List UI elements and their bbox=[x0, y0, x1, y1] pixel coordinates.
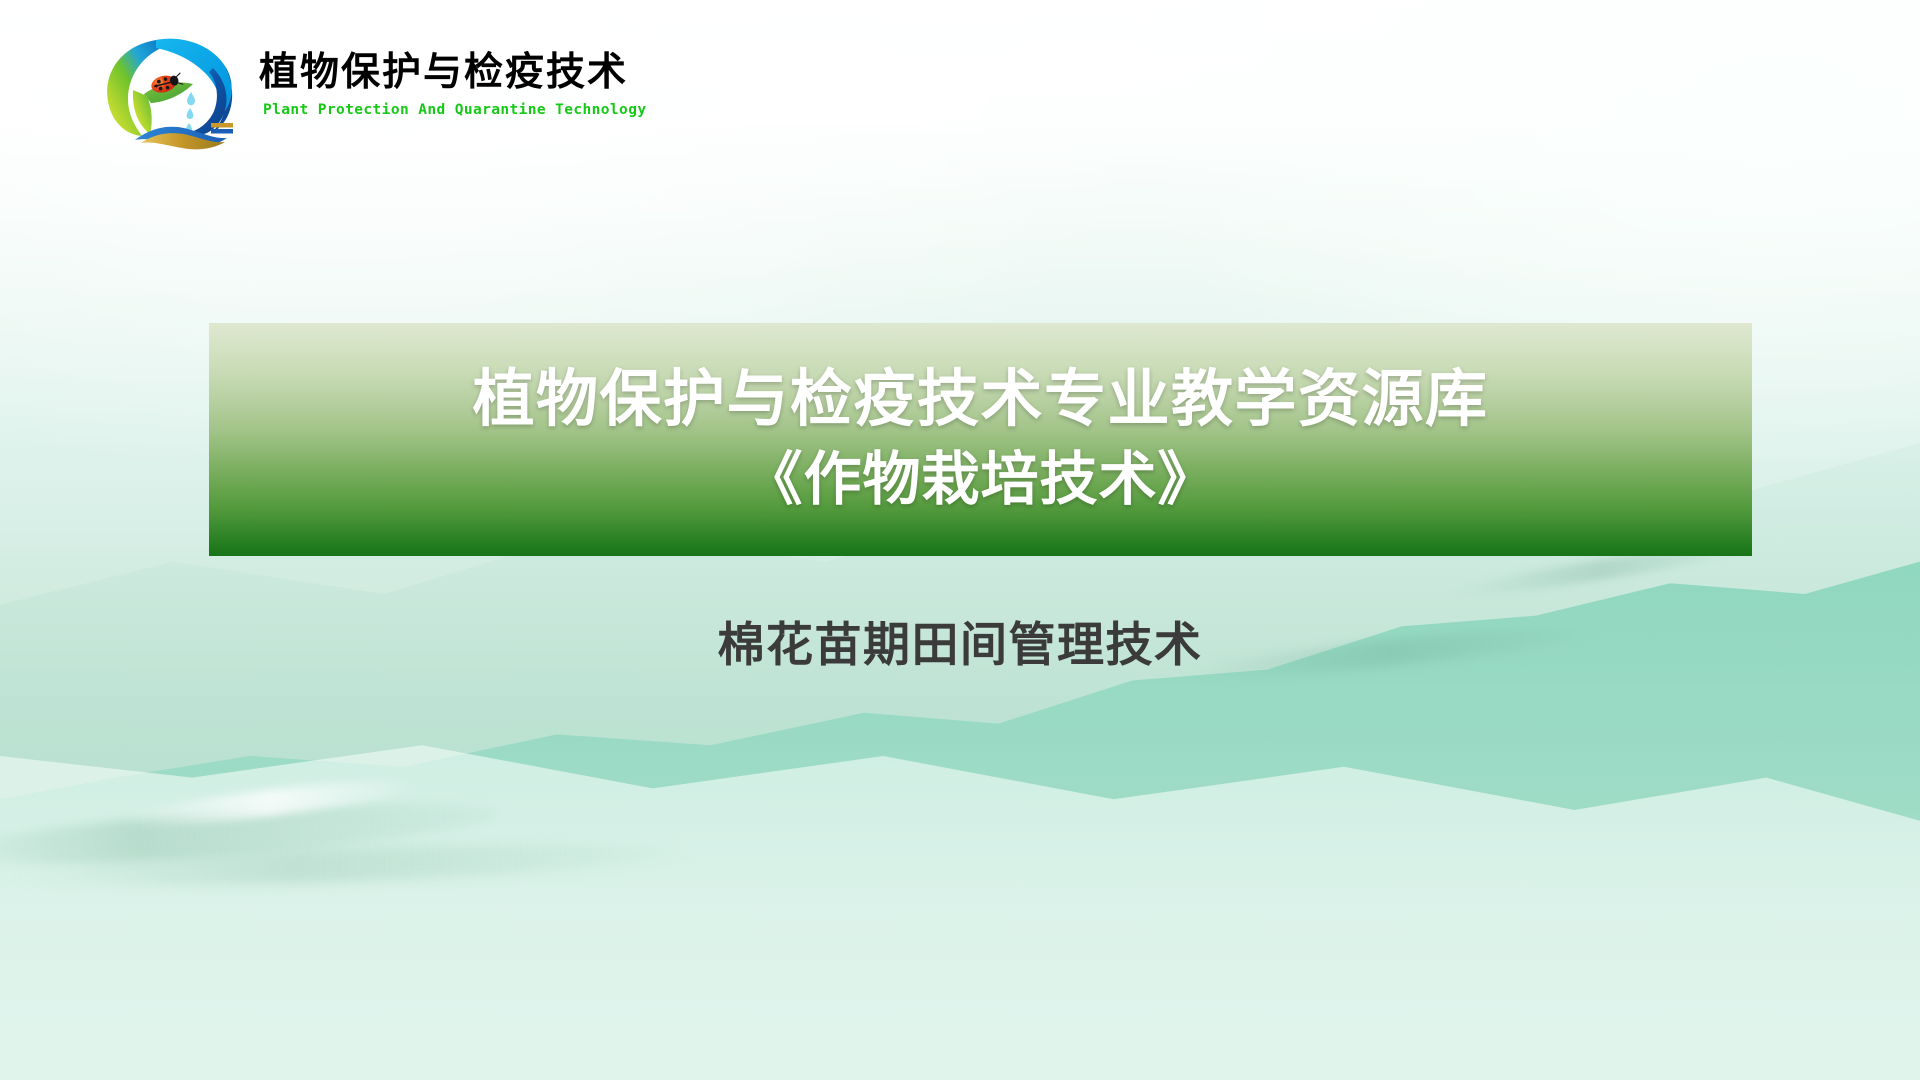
brand-title-english: Plant Protection And Quarantine Technolo… bbox=[263, 102, 646, 118]
plant-protection-quarantine-logo bbox=[95, 22, 245, 152]
background-mist-stroke bbox=[10, 836, 691, 894]
brand-header: 植物保护与检疫技术 Plant Protection And Quarantin… bbox=[95, 22, 646, 152]
presentation-slide: 植物保护与检疫技术 Plant Protection And Quarantin… bbox=[0, 0, 1920, 1080]
water-drop-icon bbox=[186, 92, 195, 133]
background-mist-highlight bbox=[120, 772, 421, 834]
brand-text-block: 植物保护与检疫技术 Plant Protection And Quarantin… bbox=[259, 22, 646, 118]
title-banner: 植物保护与检疫技术专业教学资源库 《作物栽培技术》 bbox=[209, 323, 1752, 556]
banner-title-line-1: 植物保护与检疫技术专业教学资源库 bbox=[472, 367, 1488, 434]
background-mist-stroke bbox=[0, 792, 501, 877]
slide-subtitle: 棉花苗期田间管理技术 bbox=[0, 606, 1920, 675]
banner-title-line-2: 《作物栽培技术》 bbox=[744, 448, 1216, 513]
brand-title-chinese: 植物保护与检疫技术 bbox=[259, 52, 646, 93]
